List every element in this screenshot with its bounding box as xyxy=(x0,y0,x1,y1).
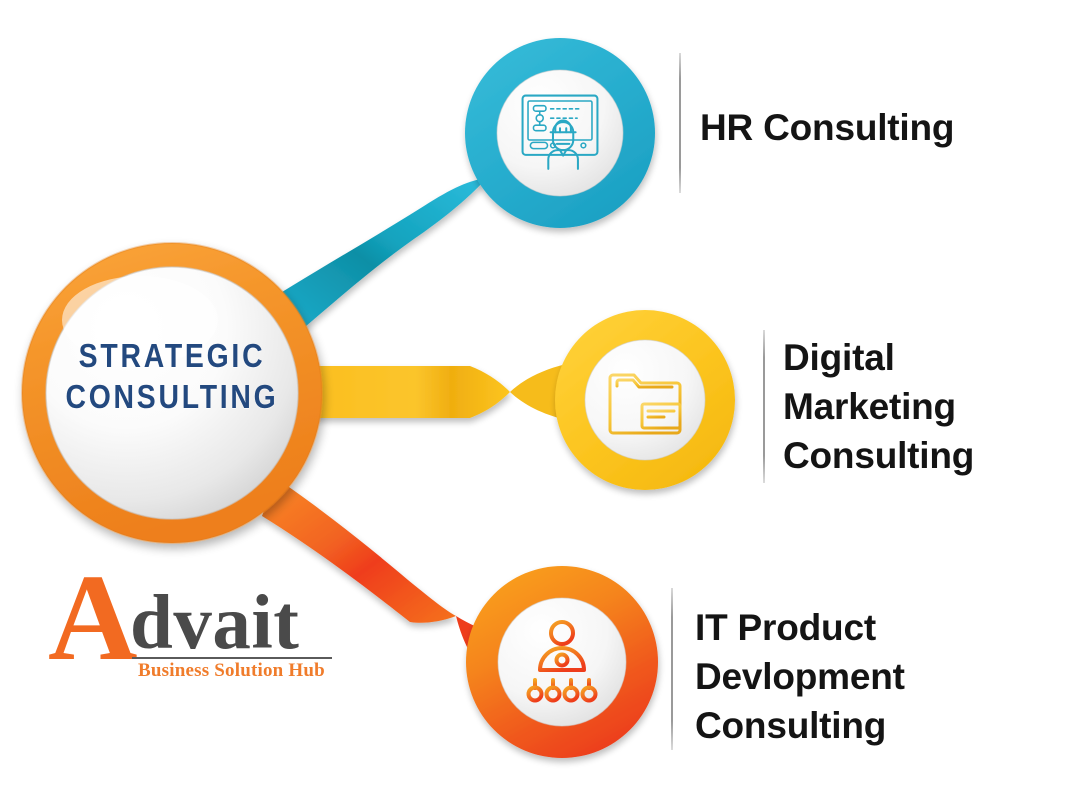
logo-wordmark: dvait xyxy=(130,584,299,661)
divider-digital-marketing xyxy=(763,330,765,483)
hub-circle[interactable] xyxy=(22,243,322,543)
node-circle-it-product[interactable] xyxy=(466,566,658,758)
logo-underline xyxy=(132,657,332,659)
label-hr-consulting[interactable]: HR Consulting xyxy=(700,103,954,152)
infographic-canvas: STRATEGIC CONSULTING HR Consulting Digit… xyxy=(0,0,1080,810)
divider-hr xyxy=(679,53,681,193)
label-it-product-development-consulting[interactable]: IT Product Devlopment Consulting xyxy=(695,603,905,750)
advait-logo[interactable]: A dvait Business Solution Hub xyxy=(48,562,338,680)
label-digital-marketing-consulting[interactable]: Digital Marketing Consulting xyxy=(783,333,974,480)
logo-tagline: Business Solution Hub xyxy=(138,660,325,682)
connector-ribbon-digital-marketing xyxy=(300,364,566,420)
logo-initial: A xyxy=(48,556,138,680)
divider-it-product xyxy=(671,588,673,750)
node-circle-digital-marketing[interactable] xyxy=(555,310,735,490)
